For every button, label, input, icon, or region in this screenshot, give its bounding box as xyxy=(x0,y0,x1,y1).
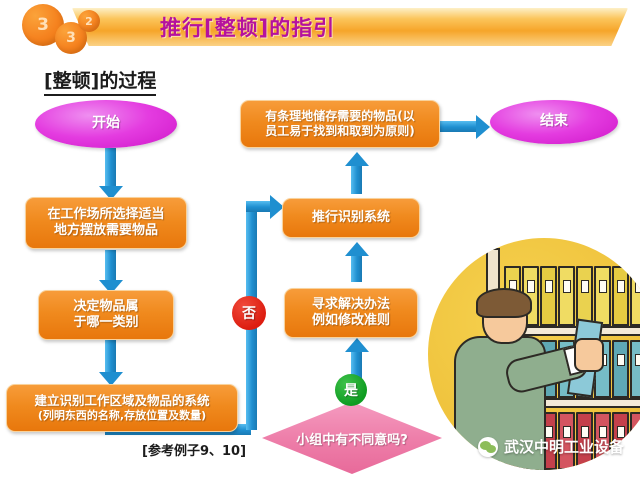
node-store-items-line2: 员工易于找到和取到为原则) xyxy=(265,124,415,139)
node-start[interactable]: 开始 xyxy=(35,100,177,148)
node-decide-category-line2: 于哪一类别 xyxy=(73,315,138,331)
node-decide-category-line1: 决定物品属 xyxy=(73,299,138,315)
reference-note: [参考例子9、10] xyxy=(142,440,246,459)
node-build-id-system-line1: 建立识别工作区域及物品的系统 xyxy=(34,393,209,409)
node-choose-location[interactable]: 在工作场所选择适当 地方摆放需要物品 xyxy=(25,197,187,249)
node-build-id-system[interactable]: 建立识别工作区域及物品的系统 (列明东西的名称,存放位置及数量) xyxy=(6,384,238,432)
node-seek-solution-line2: 例如修改准则 xyxy=(312,313,390,329)
node-choose-location-line2: 地方摆放需要物品 xyxy=(54,223,158,239)
arrow-solution-to-implement xyxy=(345,242,369,256)
connector-place-to-category xyxy=(105,250,116,282)
wechat-icon xyxy=(478,437,498,457)
node-build-id-system-line2: (列明东西的名称,存放位置及数量) xyxy=(38,409,206,423)
binder-yellow xyxy=(576,266,593,326)
connector-start-to-place xyxy=(105,148,116,188)
binder-yellow xyxy=(594,266,611,326)
step-bubble-3: 2 xyxy=(78,10,100,32)
binder-teal xyxy=(630,340,640,398)
title-banner xyxy=(72,8,628,46)
node-store-items[interactable]: 有条理地储存需要的物品(以 员工易于找到和取到为原则) xyxy=(240,100,440,148)
node-store-items-line1: 有条理地储存需要的物品(以 xyxy=(265,109,415,124)
node-decide-category[interactable]: 决定物品属 于哪一类别 xyxy=(38,290,174,340)
node-implement-id-system[interactable]: 推行识别系统 xyxy=(282,198,420,238)
arrow-store-to-end xyxy=(476,115,490,139)
binder-teal xyxy=(612,340,629,398)
section-subtitle: [整顿]的过程 xyxy=(44,66,156,96)
node-decision-disagreement[interactable]: 小组中有不同意吗? xyxy=(262,402,442,474)
arrow-implement-to-store xyxy=(345,152,369,166)
person-hand xyxy=(574,338,604,372)
badge-yes: 是 xyxy=(335,374,367,406)
binder-yellow xyxy=(612,266,629,326)
watermark: 武汉中明工业设备 xyxy=(478,436,624,457)
node-end[interactable]: 结束 xyxy=(490,100,618,144)
connector-store-to-end xyxy=(440,121,480,132)
badge-no: 否 xyxy=(232,296,266,330)
arrow-decision-to-solution xyxy=(345,338,369,352)
node-seek-solution[interactable]: 寻求解决办法 例如修改准则 xyxy=(284,288,418,338)
decision-label: 小组中有不同意吗? xyxy=(262,402,442,474)
binder-yellow xyxy=(630,266,640,326)
node-choose-location-line1: 在工作场所选择适当 xyxy=(47,207,164,223)
watermark-text: 武汉中明工业设备 xyxy=(504,436,624,457)
binder-red xyxy=(630,412,640,470)
node-seek-solution-line1: 寻求解决办法 xyxy=(312,297,390,313)
page-title: 推行[整顿]的指引 xyxy=(160,12,335,42)
connector-category-to-system xyxy=(105,340,116,374)
person-hair xyxy=(476,288,532,318)
slide-canvas: 推行[整顿]的指引 3 3 2 [整顿]的过程 开始 结束 在工作场所选择适当 … xyxy=(0,0,640,480)
